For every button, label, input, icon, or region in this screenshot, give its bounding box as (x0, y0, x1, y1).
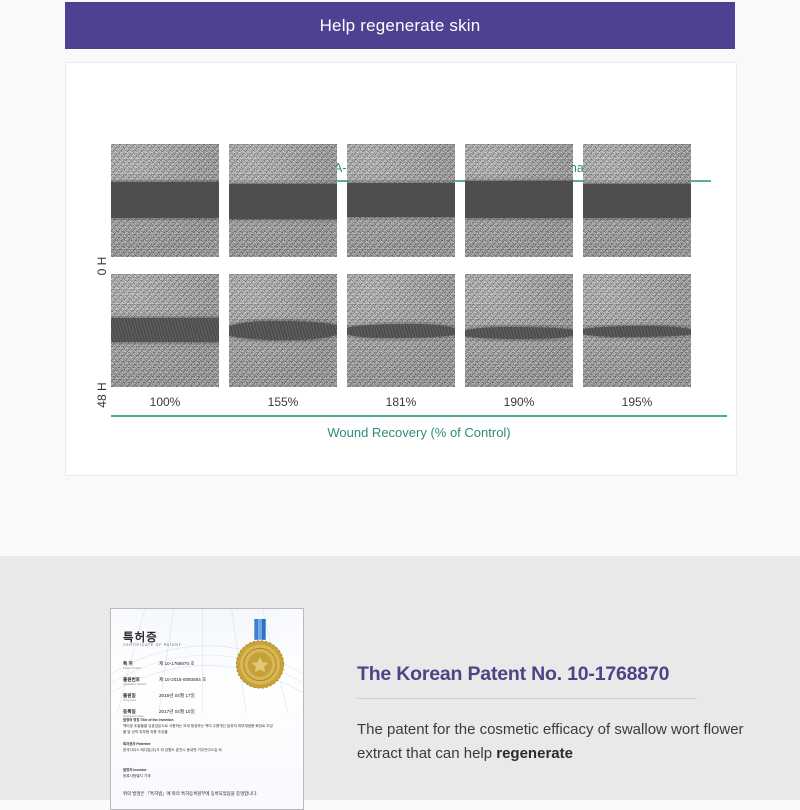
field-value: 제 10-2015-0093584 호 (159, 677, 206, 686)
patent-divider (357, 698, 697, 699)
scratch-gap (111, 182, 219, 218)
patentee-body: 한국다이스 메디칼(주)사 외 강원도 춘천시 동내면 거무안이스길 외 (123, 748, 275, 754)
scratch-gap (229, 184, 337, 219)
micrograph-48h-derma-1pct (229, 274, 337, 387)
micrograph-row-48h (111, 274, 727, 387)
certificate-field-patent-number: 특 허 Patent Number 제 10-1768870 호 (123, 661, 273, 670)
patent-certificate-image: 특허증 CERTIFICATE OF PATENT 특 허 Patent Num… (110, 608, 304, 810)
micrograph-48h-sinapic-10ppm (583, 274, 691, 387)
scratch-gap (465, 181, 573, 218)
micrograph-0h-sinapic-5ppm (465, 144, 573, 257)
scratch-gap (111, 318, 219, 342)
certificate-title-en: CERTIFICATE OF PATENT (123, 643, 182, 647)
micrograph-0h-derma-2pct (347, 144, 455, 257)
patent-title: The Korean Patent No. 10-1768870 (357, 663, 757, 686)
patent-description-emphasis: regenerate (496, 745, 573, 762)
certificate-inventor-block: 발명자 Inventor 등록사항별지 기재 (123, 767, 275, 780)
efficacy-section: Help regenerate skin DERMA-CLERA™ Sinapi… (0, 0, 800, 556)
scratch-gap (583, 184, 691, 218)
recovery-percent-derma-1pct: 155% (229, 395, 337, 409)
inventor-heading: 발명자 Inventor (123, 767, 275, 772)
wound-healing-assay-card: DERMA-CLERA™ Sinapic acid Control 1% 2% … (65, 62, 737, 476)
certificate-field-application-number: 출원번호 Application Number 제 10-2015-009358… (123, 677, 273, 686)
row-label-0h: 0 H (95, 252, 109, 280)
patent-description: The patent for the cosmetic efficacy of … (357, 718, 747, 767)
product-detail-page: Help regenerate skin DERMA-CLERA™ Sinapi… (0, 0, 800, 800)
micrograph-0h-derma-1pct (229, 144, 337, 257)
micrograph-0h-control (111, 144, 219, 257)
certificate-patentee-block: 특허권자 Patentee 한국다이스 메디칼(주)사 외 강원도 춘천시 동내… (123, 741, 275, 754)
scratch-gap (229, 321, 337, 340)
certificate-invention-block: 발명의 명칭 Title of the Invention 백미꽃 추출물을 유… (123, 717, 275, 735)
recovery-percent-row: 100% 155% 181% 190% 195% (111, 395, 727, 409)
micrograph-48h-sinapic-5ppm (465, 274, 573, 387)
recovery-percent-derma-2pct: 181% (347, 395, 455, 409)
certificate-footer-text: 위의 발명은 「특허법」에 따라 특허등록원부에 등록되었음을 증명합니다. (123, 791, 291, 797)
field-label: 특 허 Patent Number (123, 661, 159, 670)
field-label-en: Filing Date (123, 699, 159, 702)
micrograph-48h-control (111, 274, 219, 387)
field-value: 제 10-1768870 호 (159, 661, 195, 670)
field-label-en: Patent Number (123, 667, 159, 670)
chart-caption: Wound Recovery (% of Control) (111, 425, 727, 440)
micrograph-0h-sinapic-10ppm (583, 144, 691, 257)
row-label-48h: 48 H (95, 381, 109, 409)
micrograph-row-0h (111, 144, 727, 257)
patentee-heading: 특허권자 Patentee (123, 741, 275, 746)
section-banner: Help regenerate skin (65, 2, 735, 49)
scratch-gap (465, 327, 573, 339)
recovery-percent-sinapic-5ppm: 190% (465, 395, 573, 409)
certificate-field-filing-date: 출원일 Filing Date 2015년 04월 17일 (123, 693, 273, 702)
invention-body: 백미꽃 추출물을 유효성분으로 사용하는 모세 형성하는 백미 주름개선 효과의… (123, 724, 275, 735)
field-label-en: Application Number (123, 683, 159, 686)
field-value: 2015년 04월 17일 (159, 693, 195, 702)
axis-rule (111, 415, 727, 417)
micrograph-48h-derma-2pct (347, 274, 455, 387)
field-label: 출원번호 Application Number (123, 677, 159, 686)
patent-text-block: The Korean Patent No. 10-1768870 The pat… (357, 663, 757, 767)
scratch-gap (583, 326, 691, 337)
field-label: 출원일 Filing Date (123, 693, 159, 702)
banner-title: Help regenerate skin (320, 16, 481, 36)
recovery-percent-sinapic-10ppm: 195% (583, 395, 691, 409)
scratch-gap (347, 324, 455, 338)
certificate-fields: 특 허 Patent Number 제 10-1768870 호 출원번호 Ap… (123, 661, 273, 725)
recovery-percent-control: 100% (111, 395, 219, 409)
inventor-body: 등록사항별지 기재 (123, 774, 275, 780)
scratch-gap (347, 183, 455, 217)
invention-heading: 발명의 명칭 Title of the Invention (123, 717, 275, 722)
